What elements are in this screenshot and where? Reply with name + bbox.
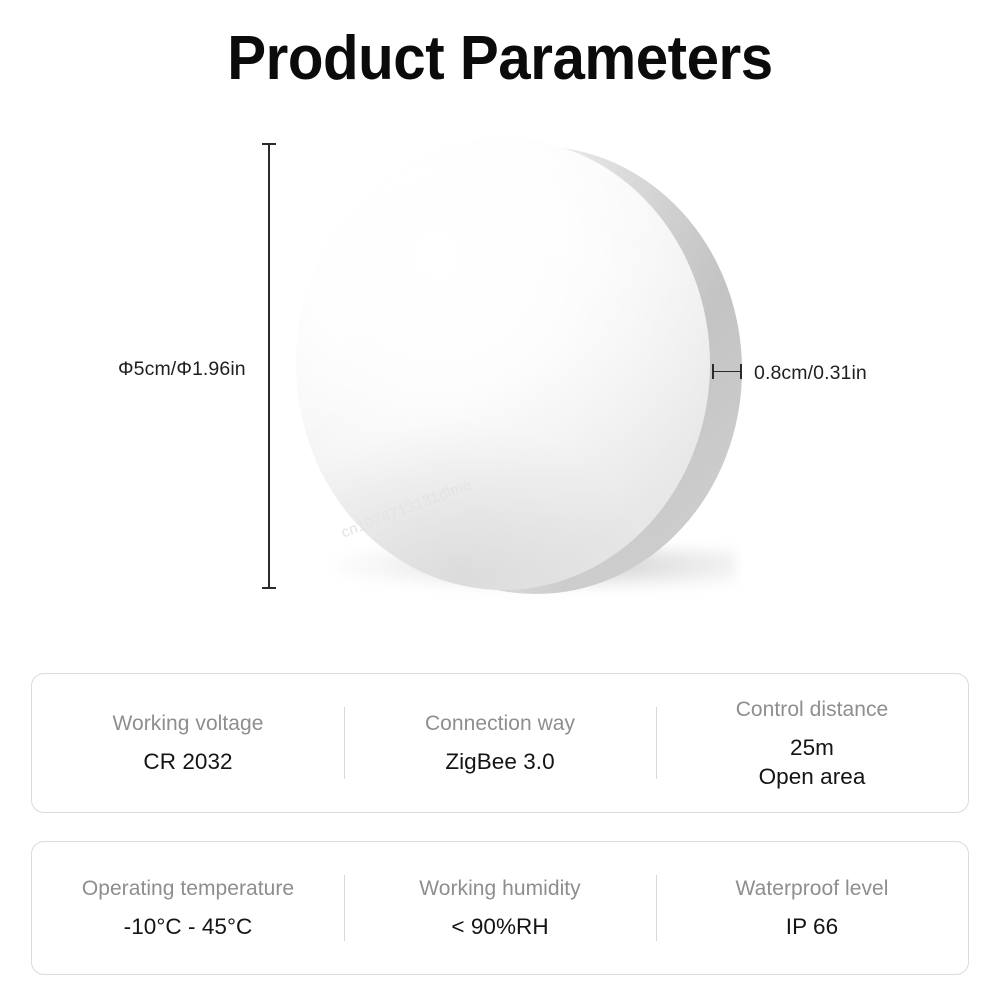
spec-cell-working-humidity: Working humidity < 90%RH: [344, 842, 656, 974]
spec-label: Control distance: [736, 696, 889, 724]
dimension-shaft-vertical: [268, 143, 270, 589]
spec-value: IP 66: [786, 912, 838, 941]
diameter-dimension-label: Φ5cm/Φ1.96in: [118, 358, 258, 381]
spec-cell-operating-temperature: Operating temperature -10°C - 45°C: [32, 842, 344, 974]
spec-card-row-2: Operating temperature -10°C - 45°C Worki…: [31, 841, 969, 975]
spec-value: -10°C - 45°C: [124, 912, 253, 941]
spec-value: ZigBee 3.0: [445, 747, 554, 776]
spec-value: CR 2032: [143, 747, 232, 776]
spec-label: Connection way: [425, 710, 575, 738]
spec-label: Working voltage: [113, 710, 264, 738]
thickness-dimension-label: 0.8cm/0.31in: [754, 362, 867, 385]
spec-label: Operating temperature: [82, 875, 294, 903]
product-face-occlusion: [296, 138, 710, 590]
dimension-cap-right: [740, 364, 742, 379]
spec-cell-control-distance: Control distance 25m Open area: [656, 674, 968, 812]
spec-label: Waterproof level: [736, 875, 889, 903]
page-title: Product Parameters: [30, 22, 970, 96]
product-disc: [296, 138, 746, 608]
dimension-shaft-horizontal: [712, 371, 742, 373]
spec-cell-working-voltage: Working voltage CR 2032: [32, 674, 344, 812]
spec-cell-connection-way: Connection way ZigBee 3.0: [344, 674, 656, 812]
product-illustration: Φ5cm/Φ1.96in cn1076713131dlme 0.8cm/0.31…: [0, 110, 1000, 650]
spec-cell-waterproof-level: Waterproof level IP 66: [656, 842, 968, 974]
spec-label: Working humidity: [419, 875, 580, 903]
spec-card-row-1: Working voltage CR 2032 Connection way Z…: [31, 673, 969, 813]
spec-value: < 90%RH: [451, 912, 548, 941]
thickness-dimension-line: [712, 364, 742, 379]
spec-value-secondary: Open area: [759, 762, 866, 791]
dimension-cap-bottom: [262, 587, 276, 589]
diameter-dimension-line: [262, 143, 275, 589]
spec-value: 25m: [790, 733, 834, 762]
